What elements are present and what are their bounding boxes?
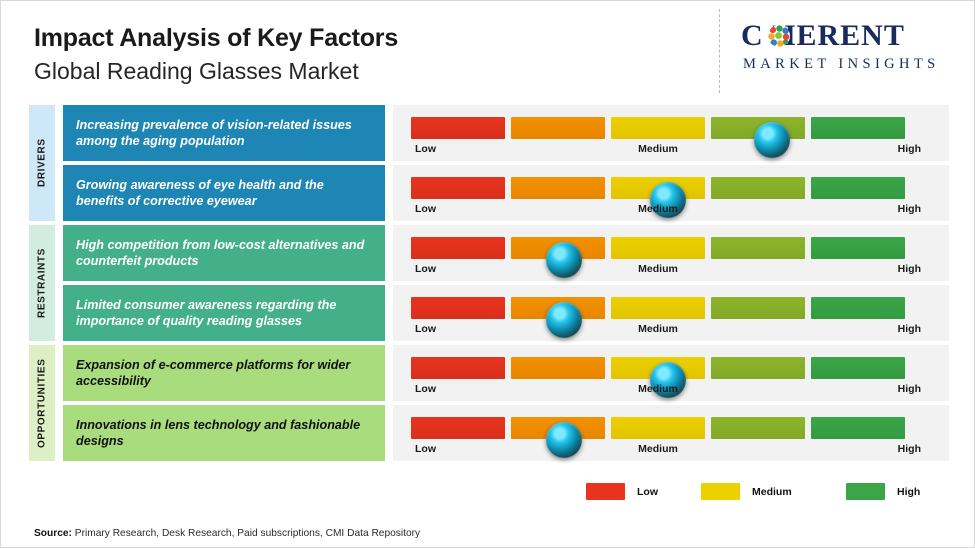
legend-item: Low: [586, 483, 658, 500]
factor-box[interactable]: Expansion of e-commerce platforms for wi…: [63, 345, 385, 401]
gauge-bar: [411, 357, 905, 379]
source-label: Source:: [34, 528, 72, 539]
gauge-segment: [611, 237, 705, 259]
gauge-segment: [411, 357, 505, 379]
impact-gauge: LowMediumHigh: [393, 165, 949, 221]
scale-label-low: Low: [415, 203, 436, 215]
legend-swatch: [846, 483, 885, 500]
gauge-bar: [411, 417, 905, 439]
legend-swatch: [701, 483, 740, 500]
infographic-slide: Impact Analysis of Key Factors Global Re…: [0, 0, 975, 548]
scale-label-high: High: [898, 203, 921, 215]
impact-gauge: LowMediumHigh: [393, 285, 949, 341]
gauge-segment: [511, 177, 605, 199]
legend-item: High: [846, 483, 920, 500]
gauge-segment: [811, 177, 905, 199]
scale-label-medium: Medium: [638, 203, 678, 215]
factor-box[interactable]: Growing awareness of eye health and the …: [63, 165, 385, 221]
legend: LowMediumHigh: [1, 483, 975, 513]
gauge-bar: [411, 237, 905, 259]
legend-label: Low: [637, 486, 658, 498]
factor-box[interactable]: High competition from low-cost alternati…: [63, 225, 385, 281]
gauge-segment: [411, 237, 505, 259]
gauge-bar: [411, 297, 905, 319]
category-label-opportunities: OPPORTUNITIES: [29, 345, 55, 461]
scale-label-high: High: [898, 443, 921, 455]
page-subtitle: Global Reading Glasses Market: [34, 56, 398, 86]
gauge-scale: LowMediumHigh: [411, 443, 905, 461]
gauge-bar: [411, 117, 905, 139]
scale-label-high: High: [898, 383, 921, 395]
factors-grid: DRIVERSRESTRAINTSOPPORTUNITIESIncreasing…: [1, 97, 975, 507]
category-label-restraints: RESTRAINTS: [29, 225, 55, 341]
gauge-segment: [511, 117, 605, 139]
page-title: Impact Analysis of Key Factors: [34, 23, 398, 53]
scale-label-medium: Medium: [638, 143, 678, 155]
gauge-segment: [511, 357, 605, 379]
scale-label-low: Low: [415, 443, 436, 455]
logo-wordmark: C HERENT: [741, 19, 956, 53]
legend-label: High: [897, 486, 920, 498]
brand-logo: C HERENT MARKET INSIGHTS: [741, 19, 956, 74]
gauge-segment: [811, 297, 905, 319]
category-label-drivers: DRIVERS: [29, 105, 55, 221]
gauge-segment: [711, 297, 805, 319]
impact-gauge: LowMediumHigh: [393, 105, 949, 161]
gauge-segment: [611, 417, 705, 439]
gauge-segment: [811, 357, 905, 379]
source-text: Primary Research, Desk Research, Paid su…: [72, 528, 420, 539]
impact-gauge: LowMediumHigh: [393, 405, 949, 461]
scale-label-high: High: [898, 143, 921, 155]
gauge-segment: [411, 177, 505, 199]
scale-label-high: High: [898, 263, 921, 275]
gauge-segment: [411, 417, 505, 439]
gauge-segment: [811, 237, 905, 259]
factor-box[interactable]: Increasing prevalence of vision-related …: [63, 105, 385, 161]
impact-gauge: LowMediumHigh: [393, 225, 949, 281]
header: Impact Analysis of Key Factors Global Re…: [1, 1, 975, 97]
source-note: Source: Primary Research, Desk Research,…: [34, 528, 420, 539]
gauge-scale: LowMediumHigh: [411, 383, 905, 401]
legend-item: Medium: [701, 483, 792, 500]
scale-label-low: Low: [415, 143, 436, 155]
gauge-scale: LowMediumHigh: [411, 263, 905, 281]
gauge-scale: LowMediumHigh: [411, 203, 905, 221]
gauge-segment: [611, 117, 705, 139]
impact-gauge: LowMediumHigh: [393, 345, 949, 401]
legend-label: Medium: [752, 486, 792, 498]
gauge-segment: [711, 357, 805, 379]
gauge-segment: [411, 297, 505, 319]
scale-label-medium: Medium: [638, 383, 678, 395]
gauge-segment: [811, 417, 905, 439]
gauge-segment: [811, 117, 905, 139]
logo-wordmark-text: C HERENT: [741, 19, 905, 52]
title-block: Impact Analysis of Key Factors Global Re…: [34, 23, 398, 86]
scale-label-low: Low: [415, 263, 436, 275]
gauge-segment: [611, 297, 705, 319]
logo-tagline: MARKET INSIGHTS: [741, 54, 956, 74]
gauge-scale: LowMediumHigh: [411, 323, 905, 341]
scale-label-medium: Medium: [638, 263, 678, 275]
gauge-segment: [711, 177, 805, 199]
gauge-segment: [411, 117, 505, 139]
scale-label-low: Low: [415, 383, 436, 395]
scale-label-high: High: [898, 323, 921, 335]
factor-box[interactable]: Limited consumer awareness regarding the…: [63, 285, 385, 341]
legend-swatch: [586, 483, 625, 500]
scale-label-medium: Medium: [638, 443, 678, 455]
gauge-scale: LowMediumHigh: [411, 143, 905, 161]
scale-label-medium: Medium: [638, 323, 678, 335]
scale-label-low: Low: [415, 323, 436, 335]
globe-dots-icon: [768, 25, 790, 47]
gauge-bar: [411, 177, 905, 199]
gauge-segment: [711, 237, 805, 259]
factor-box[interactable]: Innovations in lens technology and fashi…: [63, 405, 385, 461]
header-divider: [719, 9, 720, 93]
gauge-segment: [711, 417, 805, 439]
